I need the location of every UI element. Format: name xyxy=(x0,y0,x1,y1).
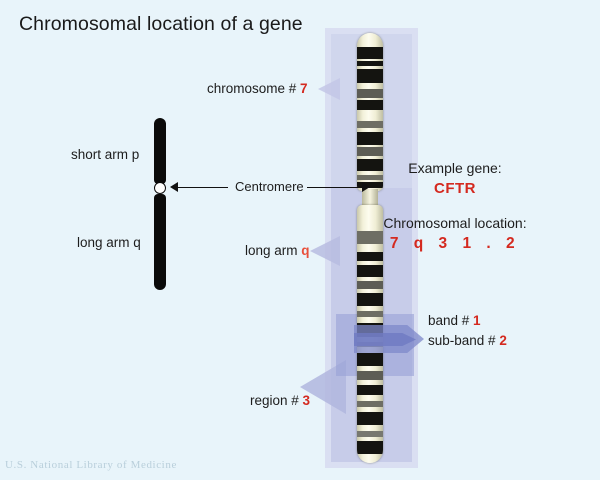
ideogram-band xyxy=(357,159,383,171)
ideogram-band xyxy=(357,441,383,454)
ideogram-band xyxy=(357,353,383,366)
ideogram-band xyxy=(357,371,383,380)
diagram-canvas: Chromosomal location of a gene short arm… xyxy=(0,0,600,480)
subband-number-value: 2 xyxy=(499,333,507,348)
short-arm-text: short arm p xyxy=(71,147,139,162)
example-gene-value: CFTR xyxy=(434,180,476,197)
ideogram-band xyxy=(357,385,383,395)
ideogram-band xyxy=(357,100,383,110)
ideogram-band xyxy=(357,252,383,261)
ideogram-band xyxy=(357,231,383,244)
region-number-value: 3 xyxy=(303,393,311,408)
long-arm-text: long arm q xyxy=(77,235,141,250)
ideogram-band xyxy=(357,265,383,277)
band-prefix: band # xyxy=(428,313,473,328)
centromere-leader-line-right xyxy=(300,187,368,188)
centromere-leader-line-left xyxy=(176,187,228,188)
ideogram-band xyxy=(357,431,383,437)
label-subband: sub-band # 2 xyxy=(428,333,507,348)
schematic-short-arm xyxy=(154,118,166,184)
chromosomal-location-caption: Chromosomal location: xyxy=(383,215,526,231)
chromosome-number-value: 7 xyxy=(300,81,308,96)
ideogram-p-arm xyxy=(357,33,383,191)
ideogram-band xyxy=(357,293,383,306)
chromosome-number-prefix: chromosome # xyxy=(207,81,300,96)
label-long-arm: long arm q xyxy=(77,235,141,250)
band-number-value: 1 xyxy=(473,313,481,328)
centromere-arrowhead-left-icon xyxy=(170,182,178,192)
label-chromosome-number: chromosome # 7 xyxy=(207,81,308,96)
ideogram-band xyxy=(357,311,383,317)
page-title: Chromosomal location of a gene xyxy=(19,13,303,36)
subband-prefix: sub-band # xyxy=(428,333,499,348)
schematic-long-arm xyxy=(154,194,166,290)
ideogram-band xyxy=(357,175,383,180)
ideogram-band xyxy=(357,61,383,66)
example-gene-caption: Example gene: xyxy=(408,160,501,176)
label-short-arm: short arm p xyxy=(71,147,139,162)
label-band: band # 1 xyxy=(428,313,481,328)
ideogram-band xyxy=(357,69,383,83)
ideogram-band xyxy=(357,47,383,59)
ideogram-band xyxy=(357,121,383,128)
chromosomal-location-value: 7 q 3 1 . 2 xyxy=(390,235,520,253)
long-arm-callout-value: q xyxy=(301,243,309,258)
footer-attribution: U.S. National Library of Medicine xyxy=(5,459,177,471)
centromere-text: Centromere xyxy=(235,179,304,194)
ideogram-band xyxy=(357,89,383,98)
schematic-centromere-icon xyxy=(154,182,166,194)
ideogram-band xyxy=(357,281,383,289)
ideogram-band xyxy=(357,147,383,156)
label-long-arm-callout: long arm q xyxy=(245,243,310,258)
label-centromere: Centromere xyxy=(232,179,307,194)
long-arm-callout-prefix: long arm xyxy=(245,243,301,258)
ideogram-band xyxy=(357,132,383,145)
ideogram-band xyxy=(357,401,383,407)
centromere-arrowhead-right-icon xyxy=(362,182,370,192)
chromosome-7-ideogram xyxy=(352,33,388,463)
label-region: region # 3 xyxy=(250,393,310,408)
ideogram-band xyxy=(357,412,383,425)
region-prefix: region # xyxy=(250,393,303,408)
